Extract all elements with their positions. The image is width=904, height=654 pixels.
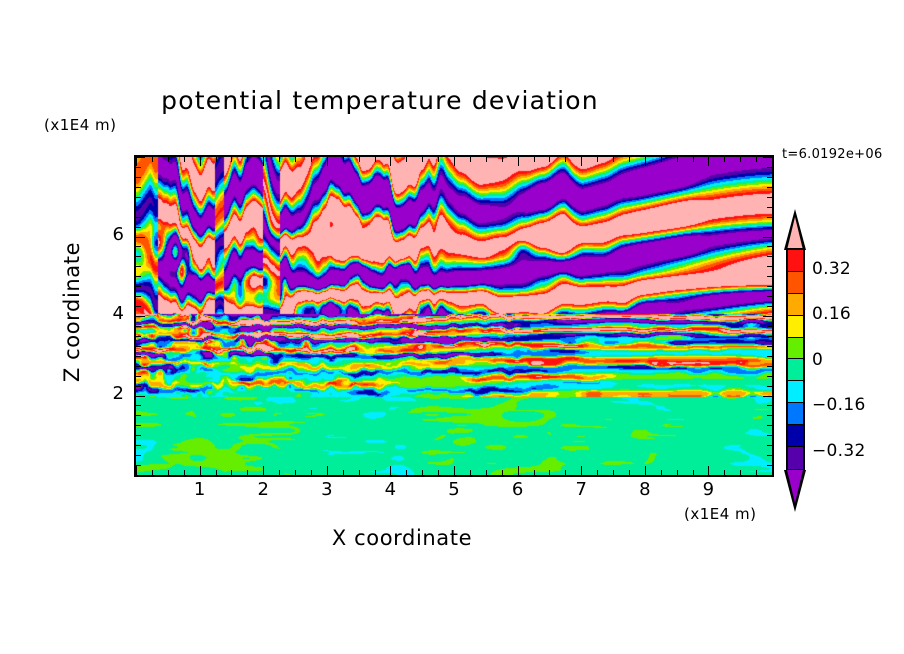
ytick-minor <box>767 356 772 357</box>
ytick-minor <box>136 356 141 357</box>
colorbar-label-1: 0.16 <box>812 304 851 324</box>
ytick-minor <box>136 217 141 218</box>
ytick-minor <box>136 366 141 367</box>
xtick-minor <box>597 470 598 475</box>
x-tick-label-8: 8 <box>625 479 665 500</box>
colorbar-cell-0 <box>788 250 803 272</box>
xtick-minor <box>184 470 185 475</box>
x-tick-label-2: 2 <box>243 479 283 500</box>
contour-field-canvas <box>136 157 772 475</box>
xtick-minor <box>772 466 773 475</box>
ytick-minor <box>767 227 772 228</box>
colorbar-cell-2 <box>788 294 803 316</box>
ytick-minor <box>136 336 141 337</box>
ytick-minor <box>767 366 772 367</box>
xtick-minor <box>502 157 503 162</box>
xtick-minor <box>263 466 264 475</box>
xtick-minor <box>772 157 773 166</box>
xtick-minor <box>581 466 582 475</box>
xtick-minor <box>359 157 360 162</box>
xtick-minor <box>168 470 169 475</box>
xtick-minor <box>216 157 217 162</box>
ytick-minor <box>136 177 141 178</box>
y-axis-units: (x1E4 m) <box>44 116 117 134</box>
x-axis-label: X coordinate <box>252 526 552 550</box>
xtick-minor <box>534 157 535 162</box>
ytick-minor <box>136 157 145 158</box>
xtick-minor <box>645 466 646 475</box>
xtick-minor <box>184 157 185 162</box>
colorbar-over-arrow <box>787 217 803 250</box>
xtick-minor <box>343 470 344 475</box>
ytick-minor <box>767 435 772 436</box>
xtick-minor <box>279 470 280 475</box>
colorbar-cell-4 <box>788 338 803 360</box>
colorbar-cell-8 <box>788 425 803 447</box>
ytick-minor <box>136 386 141 387</box>
xtick-minor <box>693 157 694 162</box>
ytick-minor <box>136 445 141 446</box>
ytick-minor <box>136 256 141 257</box>
xtick-minor <box>677 157 678 162</box>
ytick-minor <box>767 405 772 406</box>
x-tick-label-4: 4 <box>370 479 410 500</box>
xtick-minor <box>661 157 662 162</box>
xtick-minor <box>247 470 248 475</box>
colorbar-label-3: −0.16 <box>812 395 866 415</box>
ytick-minor <box>767 376 772 377</box>
xtick-minor <box>136 466 137 475</box>
ytick-minor <box>136 425 141 426</box>
ytick-minor <box>136 316 145 317</box>
xtick-minor <box>518 157 519 166</box>
ytick-minor <box>763 316 772 317</box>
xtick-minor <box>327 466 328 475</box>
xtick-minor <box>406 157 407 162</box>
y-axis-label: Z coordinate <box>60 212 84 412</box>
xtick-minor <box>375 470 376 475</box>
colorbar-cell-7 <box>788 403 803 425</box>
xtick-minor <box>231 157 232 162</box>
xtick-minor <box>295 157 296 162</box>
xtick-minor <box>645 157 646 166</box>
xtick-minor <box>486 157 487 162</box>
xtick-minor <box>343 157 344 162</box>
ytick-minor <box>767 455 772 456</box>
xtick-minor <box>152 157 153 162</box>
ytick-minor <box>767 296 772 297</box>
ytick-minor <box>767 187 772 188</box>
colorbar-cell-5 <box>788 359 803 381</box>
ytick-minor <box>767 217 772 218</box>
ytick-minor <box>136 455 141 456</box>
x-tick-label-6: 6 <box>498 479 538 500</box>
ytick-minor <box>136 376 141 377</box>
xtick-minor <box>263 157 264 166</box>
ytick-minor <box>136 187 141 188</box>
ytick-minor <box>767 346 772 347</box>
colorbar-cell-6 <box>788 381 803 403</box>
xtick-minor <box>549 470 550 475</box>
colorbar-under-arrow <box>787 470 803 503</box>
ytick-minor <box>136 405 141 406</box>
xtick-minor <box>247 157 248 162</box>
ytick-minor <box>767 415 772 416</box>
xtick-minor <box>438 157 439 162</box>
ytick-minor <box>767 246 772 247</box>
xtick-minor <box>454 466 455 475</box>
ytick-minor <box>136 415 141 416</box>
ytick-minor <box>767 276 772 277</box>
ytick-minor <box>767 256 772 257</box>
colorbar-label-0: 0.32 <box>812 259 851 279</box>
xtick-minor <box>422 470 423 475</box>
colorbar <box>786 248 805 471</box>
contour-plot <box>134 155 774 477</box>
ytick-minor <box>136 465 141 466</box>
xtick-minor <box>708 157 709 166</box>
xtick-minor <box>470 157 471 162</box>
ytick-minor <box>767 306 772 307</box>
xtick-minor <box>565 470 566 475</box>
xtick-minor <box>534 470 535 475</box>
x-tick-label-9: 9 <box>688 479 728 500</box>
ytick-minor <box>763 396 772 397</box>
ytick-minor <box>136 167 141 168</box>
xtick-minor <box>756 157 757 162</box>
xtick-minor <box>295 470 296 475</box>
xtick-minor <box>470 470 471 475</box>
ytick-minor <box>136 475 145 476</box>
ytick-minor <box>136 197 141 198</box>
xtick-minor <box>136 157 137 166</box>
ytick-minor <box>767 326 772 327</box>
ytick-minor <box>136 246 141 247</box>
xtick-minor <box>231 470 232 475</box>
xtick-minor <box>661 470 662 475</box>
ytick-minor <box>136 346 141 347</box>
colorbar-label-2: 0 <box>812 350 823 370</box>
x-tick-label-3: 3 <box>307 479 347 500</box>
xtick-minor <box>438 470 439 475</box>
xtick-minor <box>486 470 487 475</box>
ytick-minor <box>136 296 141 297</box>
xtick-minor <box>216 470 217 475</box>
xtick-minor <box>549 157 550 162</box>
xtick-minor <box>518 466 519 475</box>
ytick-minor <box>767 197 772 198</box>
ytick-minor <box>136 227 141 228</box>
x-tick-label-1: 1 <box>180 479 220 500</box>
timestamp-label: t=6.0192e+06 <box>782 147 883 162</box>
xtick-minor <box>693 470 694 475</box>
xtick-minor <box>390 157 391 166</box>
ytick-minor <box>136 237 145 238</box>
xtick-minor <box>454 157 455 166</box>
xtick-minor <box>327 157 328 166</box>
ytick-minor <box>767 207 772 208</box>
ytick-minor <box>767 167 772 168</box>
ytick-minor <box>763 475 772 476</box>
xtick-minor <box>740 157 741 162</box>
y-tick-label-6: 6 <box>84 224 124 245</box>
ytick-minor <box>767 286 772 287</box>
xtick-minor <box>629 470 630 475</box>
ytick-minor <box>767 336 772 337</box>
xtick-minor <box>740 470 741 475</box>
xtick-minor <box>311 470 312 475</box>
xtick-minor <box>708 466 709 475</box>
xtick-minor <box>359 470 360 475</box>
x-tick-label-5: 5 <box>434 479 474 500</box>
x-axis-units: (x1E4 m) <box>684 505 757 523</box>
y-tick-label-2: 2 <box>84 383 124 404</box>
x-tick-label-7: 7 <box>561 479 601 500</box>
ytick-minor <box>136 286 141 287</box>
xtick-minor <box>279 157 280 162</box>
ytick-minor <box>767 425 772 426</box>
xtick-minor <box>406 470 407 475</box>
ytick-minor <box>136 326 141 327</box>
xtick-minor <box>597 157 598 162</box>
ytick-minor <box>763 237 772 238</box>
ytick-minor <box>136 306 141 307</box>
ytick-minor <box>767 177 772 178</box>
xtick-minor <box>168 157 169 162</box>
xtick-minor <box>200 466 201 475</box>
ytick-minor <box>763 157 772 158</box>
xtick-minor <box>629 157 630 162</box>
xtick-minor <box>390 466 391 475</box>
colorbar-label-4: −0.32 <box>812 441 866 461</box>
xtick-minor <box>311 157 312 162</box>
ytick-minor <box>136 207 141 208</box>
page-title: potential temperature deviation <box>0 86 760 115</box>
xtick-minor <box>613 157 614 162</box>
ytick-minor <box>767 386 772 387</box>
colorbar-cell-9 <box>788 447 803 469</box>
xtick-minor <box>724 157 725 162</box>
ytick-minor <box>767 266 772 267</box>
ytick-minor <box>136 266 141 267</box>
colorbar-cell-1 <box>788 272 803 294</box>
xtick-minor <box>200 157 201 166</box>
xtick-minor <box>677 470 678 475</box>
ytick-minor <box>767 445 772 446</box>
xtick-minor <box>565 157 566 162</box>
xtick-minor <box>422 157 423 162</box>
xtick-minor <box>502 470 503 475</box>
xtick-minor <box>724 470 725 475</box>
y-tick-label-4: 4 <box>84 303 124 324</box>
xtick-minor <box>375 157 376 162</box>
ytick-minor <box>767 465 772 466</box>
xtick-minor <box>152 470 153 475</box>
xtick-minor <box>756 470 757 475</box>
ytick-minor <box>136 396 145 397</box>
ytick-minor <box>136 435 141 436</box>
ytick-minor <box>136 276 141 277</box>
colorbar-cell-3 <box>788 316 803 338</box>
xtick-minor <box>613 470 614 475</box>
xtick-minor <box>581 157 582 166</box>
